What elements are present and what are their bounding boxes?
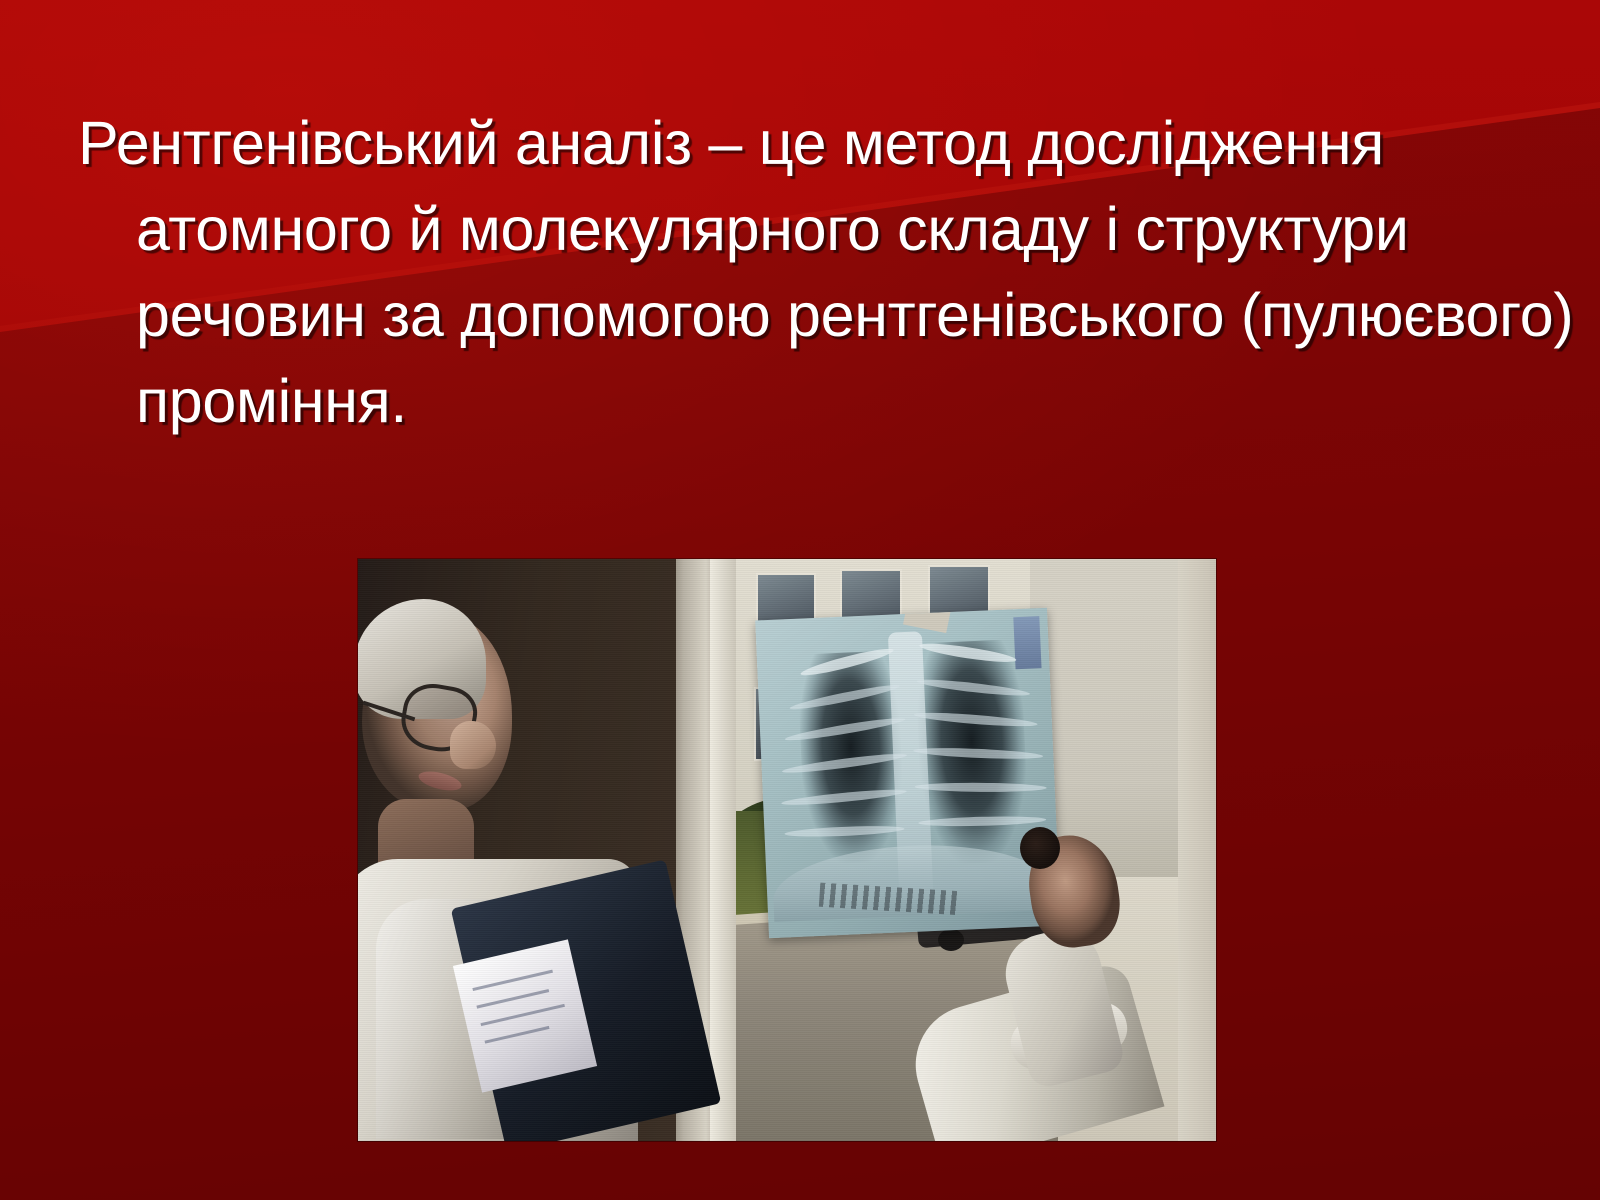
parked-car-wheel <box>938 929 964 951</box>
paper-text-line <box>480 1004 564 1026</box>
window-frame <box>710 559 736 1141</box>
person-nose <box>450 721 496 769</box>
paper-text-line <box>476 989 549 1009</box>
slide-body-text: Рентгенівський аналіз – це метод дослідж… <box>78 100 1576 444</box>
slide-body-lead: Рентгенівський аналіз – це метод <box>78 109 1027 177</box>
chest-x-ray-film <box>755 608 1061 938</box>
presentation-slide: Рентгенівський аналіз – це метод дослідж… <box>0 0 1600 1200</box>
paper-text-line <box>485 1026 550 1044</box>
interior-wall-right <box>1178 559 1216 1141</box>
person-thumb <box>1020 827 1060 869</box>
paper-text-line <box>472 970 553 991</box>
slide-photo[interactable] <box>358 559 1216 1141</box>
